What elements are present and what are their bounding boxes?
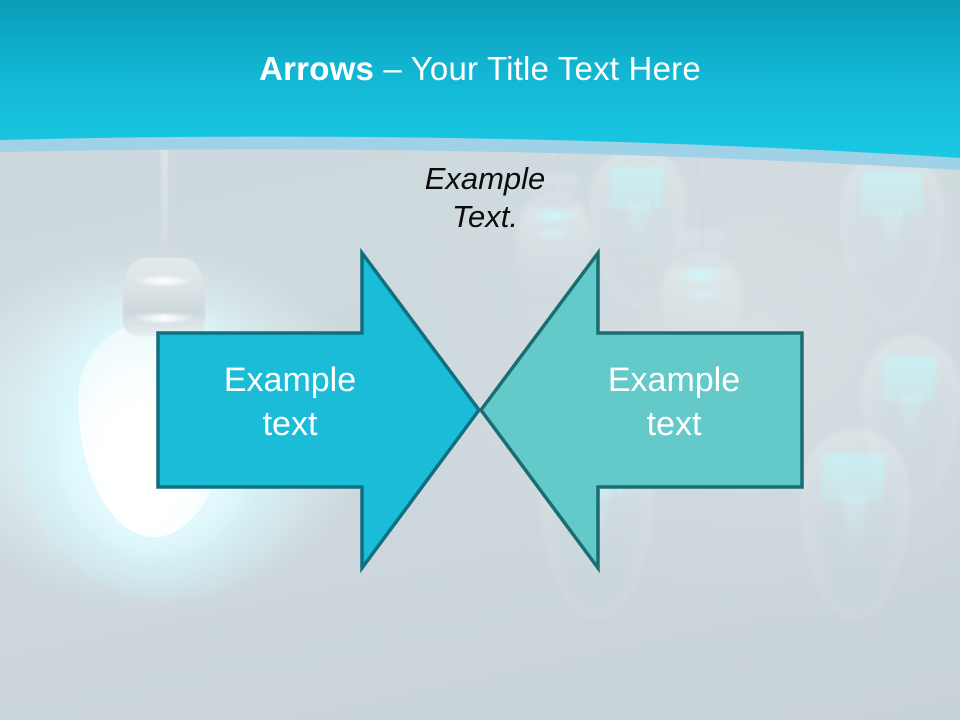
arrow-group [0, 0, 960, 720]
right-arrow-label: Example text [552, 358, 796, 446]
left-arrow-label: Example text [168, 358, 412, 446]
slide-canvas: Arrows – Your Title Text Here Example Te… [0, 0, 960, 720]
